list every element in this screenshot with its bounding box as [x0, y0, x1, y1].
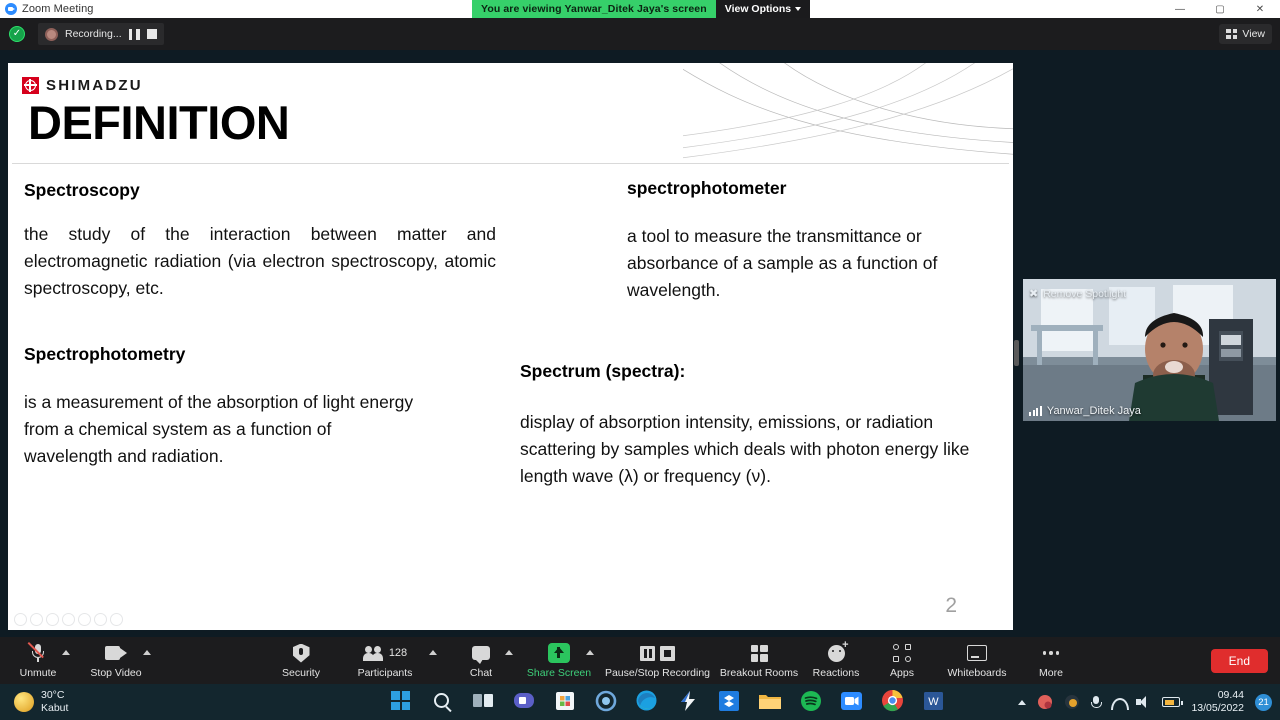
block-body: a tool to measure the transmittance or a…: [627, 223, 997, 304]
block-heading: Spectrum (spectra):: [520, 361, 1012, 382]
sun-icon: [14, 692, 34, 712]
start-button[interactable]: [388, 688, 413, 713]
toolbar-item-unmute[interactable]: Unmute: [5, 642, 71, 679]
taskbar-clock[interactable]: 09.44 13/05/2022: [1191, 689, 1244, 714]
slide-body: Spectroscopy the study of the interactio…: [8, 164, 1013, 630]
toolbar-label: Stop Video: [90, 667, 141, 679]
grid-icon: [1226, 29, 1237, 39]
share-banner-message: You are viewing Yanwar_Ditek Jaya's scre…: [472, 0, 716, 18]
content-block-spectrum: Spectrum (spectra): display of absorptio…: [520, 361, 1012, 490]
taskbar-app-chrome[interactable]: [880, 688, 905, 713]
pause-icon[interactable]: [640, 646, 655, 661]
spotify-icon: [800, 690, 822, 712]
shimadzu-logo: SHIMADZU: [22, 77, 143, 94]
participants-chevron-icon[interactable]: [429, 650, 437, 655]
tray-battery-icon[interactable]: [1162, 697, 1180, 707]
slide-page-number: 2: [945, 594, 957, 618]
block-body: display of absorption intensity, emissio…: [520, 409, 1012, 490]
ellipsis-icon: [1043, 642, 1060, 664]
taskbar-app-edge[interactable]: [634, 688, 659, 713]
windows-taskbar: 30°C Kabut: [0, 684, 1280, 720]
tray-volume-icon[interactable]: [1136, 696, 1151, 708]
whiteboard-icon: [967, 642, 987, 664]
participants-count: 128: [389, 647, 407, 659]
recording-control-bar: Recording...: [38, 23, 164, 45]
minimize-icon[interactable]: —: [1160, 0, 1200, 18]
recording-status-label: Recording...: [65, 28, 122, 40]
decorative-arcs: [683, 63, 1013, 163]
annotate-mouse-icon[interactable]: [14, 613, 27, 626]
share-resize-handle[interactable]: [1014, 340, 1019, 366]
shimadzu-mark-icon: [22, 77, 39, 94]
taskbar-app-cortana[interactable]: [593, 688, 618, 713]
block-heading: Spectroscopy: [24, 180, 496, 201]
screen-share-banner: You are viewing Yanwar_Ditek Jaya's scre…: [472, 0, 810, 18]
toolbar-label: Whiteboards: [948, 667, 1007, 679]
toolbar-label: More: [1039, 667, 1063, 679]
window-title: Zoom Meeting: [22, 3, 94, 15]
view-button-label: View: [1242, 28, 1265, 40]
grid-icon: [751, 642, 768, 664]
weather-condition: Kabut: [41, 702, 68, 715]
remove-spotlight-label: Remove Spotlight: [1043, 288, 1126, 300]
annotate-stamp-icon[interactable]: [62, 613, 75, 626]
taskbar-app-file-explorer[interactable]: [757, 688, 782, 713]
video-frame: [1023, 279, 1276, 421]
smiley-plus-icon: [828, 642, 845, 664]
share-chevron-icon[interactable]: [586, 650, 594, 655]
toolbar-item-whiteboards[interactable]: Whiteboards: [944, 642, 1010, 679]
chevron-down-icon: [795, 7, 801, 11]
notification-badge[interactable]: 21: [1255, 694, 1272, 711]
zoom-meeting-toolbar: Unmute Stop Video Security 128 Participa…: [0, 637, 1280, 684]
people-icon: 128: [363, 642, 407, 664]
toolbar-item-chat[interactable]: Chat: [448, 642, 514, 679]
block-body: the study of the interaction between mat…: [24, 221, 496, 302]
content-block-spectrophotometry: Spectrophotometry is a measurement of th…: [24, 344, 424, 470]
taskbar-search-button[interactable]: [429, 688, 454, 713]
tray-app-icon-2[interactable]: [1064, 694, 1080, 710]
toolbar-label: Apps: [890, 667, 914, 679]
annotate-clear-icon[interactable]: [110, 613, 123, 626]
microphone-muted-icon: [31, 642, 45, 664]
annotate-draw-icon[interactable]: [46, 613, 59, 626]
chat-chevron-icon[interactable]: [505, 650, 513, 655]
encryption-shield-icon[interactable]: ✓: [9, 26, 25, 42]
tray-microphone-icon[interactable]: [1091, 696, 1100, 709]
signal-strength-icon: [1029, 406, 1042, 416]
block-heading: Spectrophotometry: [24, 344, 424, 365]
zoom-app-icon: [5, 3, 17, 15]
taskbar-app-word[interactable]: W: [921, 688, 946, 713]
clock-time: 09.44: [1191, 689, 1244, 702]
taskbar-app-teams[interactable]: [511, 688, 536, 713]
annotate-select-icon[interactable]: [30, 613, 43, 626]
toolbar-item-participants[interactable]: 128 Participants: [352, 642, 418, 679]
teams-icon: [512, 690, 536, 712]
record-indicator-icon: [45, 28, 58, 41]
stop-recording-icon[interactable]: [147, 29, 157, 39]
content-block-spectrophotometer: spectrophotometer a tool to measure the …: [627, 178, 997, 304]
toolbar-label: Breakout Rooms: [720, 667, 798, 679]
toolbar-item-apps[interactable]: Apps: [869, 642, 935, 679]
annotate-spotlight-icon[interactable]: [78, 613, 91, 626]
edge-icon: [635, 689, 658, 712]
weather-temperature: 30°C: [41, 689, 68, 702]
annotate-eraser-icon[interactable]: [94, 613, 107, 626]
toolbar-label: Pause/Stop Recording: [605, 667, 710, 679]
shield-icon: [293, 642, 310, 664]
word-icon: W: [923, 690, 944, 712]
video-options-chevron-icon[interactable]: [143, 650, 151, 655]
lightning-app-icon: [678, 690, 698, 712]
pin-icon: ✖: [1029, 289, 1038, 300]
window-controls: — ▢ ✕: [1160, 0, 1280, 18]
toolbar-label: Share Screen: [527, 667, 591, 679]
toolbar-label: Participants: [358, 667, 413, 679]
annotation-toolbar[interactable]: [14, 613, 123, 626]
toolbar-label: Security: [282, 667, 320, 679]
dropbox-icon: [718, 690, 740, 712]
toolbar-label: Chat: [470, 667, 492, 679]
share-screen-icon: [548, 642, 570, 664]
remove-spotlight-button[interactable]: ✖ Remove Spotlight: [1029, 288, 1126, 300]
task-view-button[interactable]: [470, 688, 495, 713]
shared-slide[interactable]: SHIMADZU DEFINITION Spectroscopy the stu…: [8, 63, 1013, 630]
participant-video-tile[interactable]: ✖ Remove Spotlight Yanwar_Ditek Jaya: [1023, 279, 1276, 421]
pause-recording-icon[interactable]: [129, 29, 140, 40]
zoom-taskbar-icon: [840, 690, 863, 712]
folder-icon: [758, 691, 782, 711]
camera-icon: [105, 642, 127, 664]
view-options-button[interactable]: View Options: [716, 0, 810, 18]
audio-options-chevron-icon[interactable]: [62, 650, 70, 655]
taskbar-app-dropbox[interactable]: [716, 688, 741, 713]
end-meeting-button[interactable]: End: [1211, 649, 1268, 673]
cortana-icon: [595, 690, 617, 712]
toolbar-item-breakout-rooms[interactable]: Breakout Rooms: [726, 642, 792, 679]
task-view-icon: [473, 693, 493, 708]
system-tray: 09.44 13/05/2022 21: [1018, 684, 1272, 720]
apps-icon: [893, 642, 911, 664]
tray-app-icon-1[interactable]: [1037, 694, 1053, 710]
taskbar-app-zoom[interactable]: [839, 688, 864, 713]
stop-icon[interactable]: [660, 646, 675, 661]
windows-logo-icon: [391, 691, 410, 710]
view-options-label: View Options: [725, 3, 791, 15]
toolbar-item-reactions[interactable]: Reactions: [803, 642, 869, 679]
tray-expand-chevron-icon[interactable]: [1018, 700, 1026, 705]
search-icon: [434, 693, 449, 708]
pause-stop-icon: [640, 642, 675, 664]
store-icon: [554, 690, 576, 712]
clock-date: 13/05/2022: [1191, 702, 1244, 715]
maximize-icon[interactable]: ▢: [1200, 0, 1240, 18]
slide-title: DEFINITION: [28, 99, 289, 146]
toolbar-item-share-screen[interactable]: Share Screen: [526, 642, 592, 679]
block-heading: spectrophotometer: [627, 178, 997, 199]
view-layout-button[interactable]: View: [1219, 24, 1272, 44]
svg-text:W: W: [928, 696, 939, 708]
close-icon[interactable]: ✕: [1240, 0, 1280, 18]
toolbar-item-more[interactable]: More: [1018, 642, 1084, 679]
taskbar-weather-widget[interactable]: 30°C Kabut: [14, 689, 68, 714]
chat-bubble-icon: [472, 642, 490, 664]
taskbar-app-lightning[interactable]: [675, 688, 700, 713]
taskbar-app-spotify[interactable]: [798, 688, 823, 713]
participant-name-label: Yanwar_Ditek Jaya: [1047, 405, 1141, 417]
toolbar-item-security[interactable]: Security: [268, 642, 334, 679]
participant-name-badge: Yanwar_Ditek Jaya: [1029, 405, 1141, 417]
taskbar-app-store[interactable]: [552, 688, 577, 713]
toolbar-label: Unmute: [20, 667, 57, 679]
recording-strip: ✓ Recording... View: [0, 18, 1280, 50]
shimadzu-wordmark: SHIMADZU: [46, 77, 143, 94]
content-block-spectroscopy: Spectroscopy the study of the interactio…: [24, 180, 496, 302]
slide-header: SHIMADZU DEFINITION: [8, 63, 1013, 163]
toolbar-label: Reactions: [813, 667, 860, 679]
toolbar-item-pause-stop-recording[interactable]: Pause/Stop Recording: [600, 642, 715, 679]
taskbar-app-icons: W: [388, 688, 946, 713]
title-bar-left: Zoom Meeting: [0, 3, 94, 15]
tray-wifi-icon[interactable]: [1111, 697, 1125, 708]
chrome-icon: [881, 689, 904, 712]
block-body: is a measurement of the absorption of li…: [24, 389, 424, 470]
toolbar-item-stop-video[interactable]: Stop Video: [83, 642, 149, 679]
